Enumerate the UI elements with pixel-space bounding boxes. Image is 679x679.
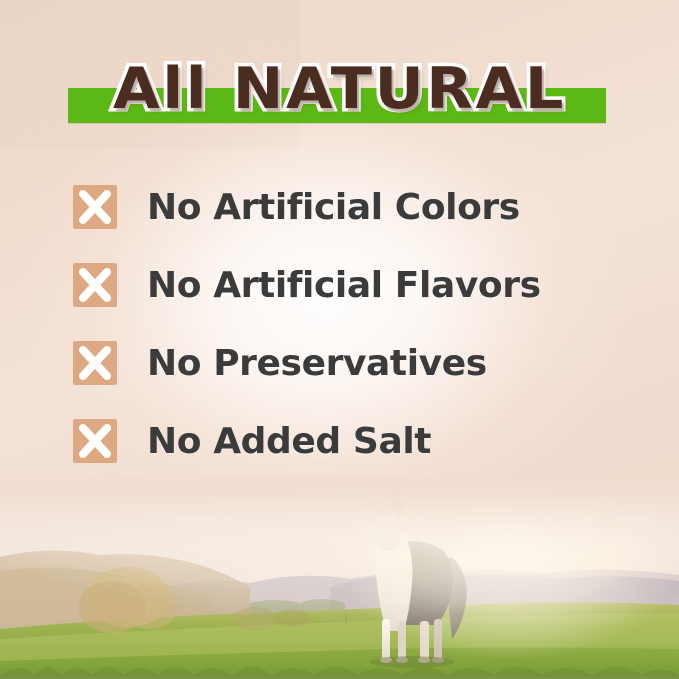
page-title: All NATURAL xyxy=(0,48,679,130)
all-natural-poster: All NATURAL No Artificial Colors No Arti… xyxy=(0,0,679,679)
list-item-label: No Added Salt xyxy=(147,421,431,462)
x-mark-icon xyxy=(73,185,117,229)
list-item-label: No Artificial Flavors xyxy=(147,265,541,306)
x-mark-icon xyxy=(73,419,117,463)
list-item: No Artificial Colors xyxy=(0,168,679,246)
dog-in-field-photo xyxy=(0,479,679,679)
x-mark-icon xyxy=(73,341,117,385)
header-banner: All NATURAL xyxy=(0,48,679,140)
feature-checklist: No Artificial Colors No Artificial Flavo… xyxy=(0,168,679,480)
list-item-label: No Artificial Colors xyxy=(147,187,520,228)
list-item: No Added Salt xyxy=(0,402,679,480)
x-mark-icon xyxy=(73,263,117,307)
list-item: No Preservatives xyxy=(0,324,679,402)
list-item: No Artificial Flavors xyxy=(0,246,679,324)
list-item-label: No Preservatives xyxy=(147,343,487,384)
